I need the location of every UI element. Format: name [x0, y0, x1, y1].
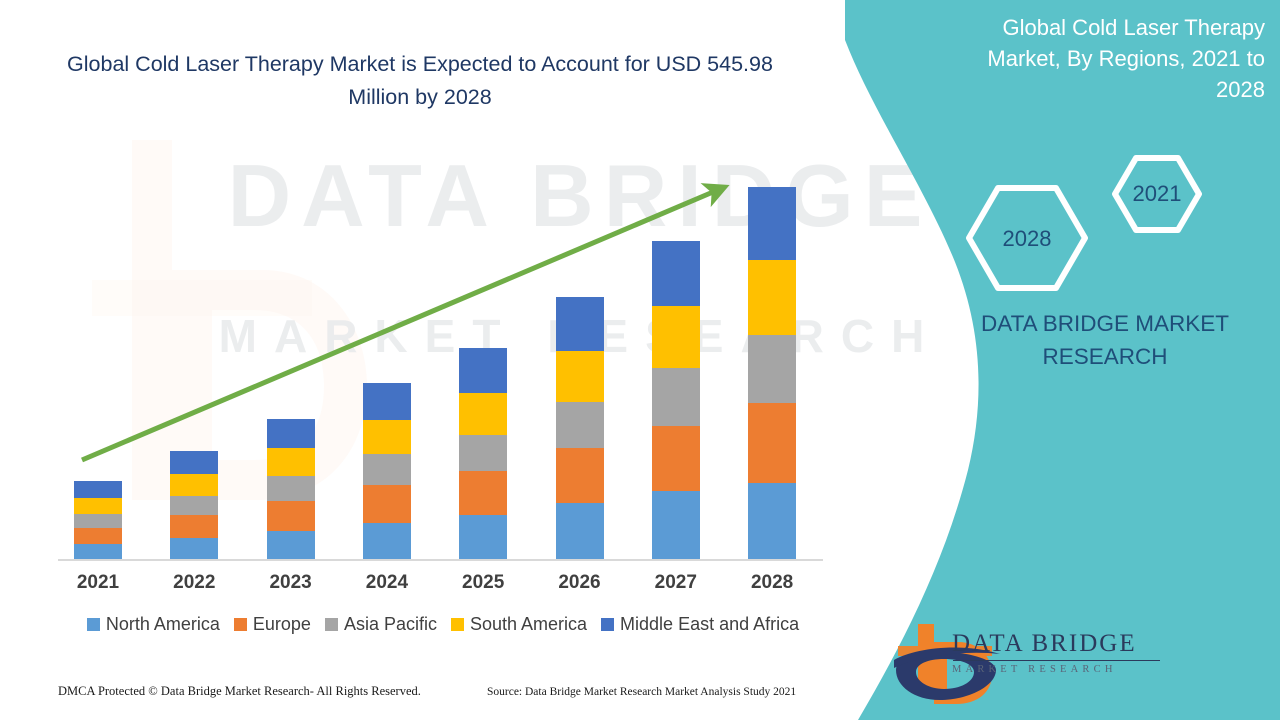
bar-segment[interactable]	[170, 538, 218, 560]
bar-segment[interactable]	[652, 241, 700, 306]
bar-segment[interactable]	[267, 448, 315, 476]
footer-copyright: DMCA Protected © Data Bridge Market Rese…	[58, 684, 421, 699]
bar-group-2026[interactable]	[556, 297, 604, 560]
chart-panel: Global Cold Laser Therapy Market is Expe…	[0, 0, 860, 720]
legend-swatch-icon	[601, 618, 614, 631]
data-bridge-logo: DATA BRIDGE MARKET RESEARCH	[892, 612, 1222, 707]
bar-segment[interactable]	[556, 448, 604, 503]
x-axis-line	[58, 559, 823, 561]
bar-segment[interactable]	[267, 476, 315, 501]
chart-title: Global Cold Laser Therapy Market is Expe…	[40, 48, 800, 115]
bar-segment[interactable]	[459, 435, 507, 471]
bar-group-2027[interactable]	[652, 241, 700, 560]
bar-segment[interactable]	[74, 481, 122, 498]
bar-segment[interactable]	[267, 419, 315, 448]
bar-segment[interactable]	[459, 515, 507, 560]
bar-segment[interactable]	[556, 402, 604, 448]
legend-label: Europe	[253, 614, 311, 635]
brand-name: DATA BRIDGE MARKET RESEARCH	[940, 308, 1270, 373]
bar-segment[interactable]	[748, 260, 796, 335]
bar-segment[interactable]	[74, 544, 122, 560]
bar-segment[interactable]	[556, 297, 604, 351]
bar-group-2025[interactable]	[459, 348, 507, 560]
bar-segment[interactable]	[267, 501, 315, 531]
bar-segment[interactable]	[652, 368, 700, 426]
right-panel-content: Global Cold Laser Therapy Market, By Reg…	[940, 0, 1280, 720]
bar-segment[interactable]	[748, 483, 796, 560]
legend-swatch-icon	[325, 618, 338, 631]
legend-item[interactable]: Asia Pacific	[325, 614, 437, 635]
x-axis-label-2022: 2022	[159, 572, 229, 594]
right-panel-title: Global Cold Laser Therapy Market, By Reg…	[965, 12, 1265, 106]
x-axis-label-2024: 2024	[352, 572, 422, 594]
hexagon-group: 2021 2028	[950, 150, 1270, 300]
bar-segment[interactable]	[363, 485, 411, 523]
bar-segment[interactable]	[748, 403, 796, 483]
x-axis-label-2021: 2021	[63, 572, 133, 594]
hexagon-2021-label: 2021	[1117, 181, 1197, 207]
legend-swatch-icon	[87, 618, 100, 631]
bar-group-2022[interactable]	[170, 451, 218, 560]
bar-segment[interactable]	[556, 351, 604, 402]
legend-label: Asia Pacific	[344, 614, 437, 635]
logo-wordmark: DATA BRIDGE MARKET RESEARCH	[952, 630, 1182, 675]
bar-segment[interactable]	[170, 496, 218, 515]
legend-item[interactable]: Europe	[234, 614, 311, 635]
bar-segment[interactable]	[170, 451, 218, 474]
bar-segment[interactable]	[74, 514, 122, 528]
legend-label: South America	[470, 614, 587, 635]
bar-segment[interactable]	[170, 515, 218, 538]
bar-segment[interactable]	[363, 420, 411, 454]
bar-segment[interactable]	[652, 306, 700, 368]
legend-label: North America	[106, 614, 220, 635]
logo-divider	[953, 660, 1160, 661]
bar-segment[interactable]	[459, 393, 507, 435]
logo-sub-text: MARKET RESEARCH	[952, 664, 1182, 675]
bar-segment[interactable]	[363, 383, 411, 420]
bar-segment[interactable]	[170, 474, 218, 496]
bar-segment[interactable]	[459, 348, 507, 393]
x-axis-labels: 20212022202320242025202620272028	[58, 572, 823, 602]
legend-item[interactable]: North America	[87, 614, 220, 635]
chart-legend: North AmericaEuropeAsia PacificSouth Ame…	[58, 614, 828, 635]
bar-segment[interactable]	[363, 454, 411, 485]
bar-group-2021[interactable]	[74, 481, 122, 560]
bar-segment[interactable]	[74, 528, 122, 544]
legend-item[interactable]: Middle East and Africa	[601, 614, 799, 635]
plot-area	[58, 160, 823, 560]
legend-label: Middle East and Africa	[620, 614, 799, 635]
bar-segment[interactable]	[652, 491, 700, 560]
x-axis-label-2026: 2026	[545, 572, 615, 594]
legend-item[interactable]: South America	[451, 614, 587, 635]
bar-segment[interactable]	[267, 531, 315, 560]
bar-group-2023[interactable]	[267, 419, 315, 560]
x-axis-label-2023: 2023	[256, 572, 326, 594]
bar-segment[interactable]	[748, 335, 796, 403]
bar-group-2028[interactable]	[748, 187, 796, 560]
footer-source: Source: Data Bridge Market Research Mark…	[487, 686, 796, 698]
bar-group-2024[interactable]	[363, 383, 411, 560]
legend-swatch-icon	[234, 618, 247, 631]
x-axis-label-2025: 2025	[448, 572, 518, 594]
bar-segment[interactable]	[748, 187, 796, 260]
x-axis-label-2027: 2027	[641, 572, 711, 594]
hexagon-2028-label: 2028	[987, 226, 1067, 252]
legend-swatch-icon	[451, 618, 464, 631]
bar-segment[interactable]	[363, 523, 411, 560]
bar-segment[interactable]	[556, 503, 604, 560]
bar-segment[interactable]	[459, 471, 507, 515]
bar-segment[interactable]	[652, 426, 700, 491]
x-axis-label-2028: 2028	[737, 572, 807, 594]
bar-segment[interactable]	[74, 498, 122, 514]
logo-main-text: DATA BRIDGE	[952, 630, 1182, 658]
